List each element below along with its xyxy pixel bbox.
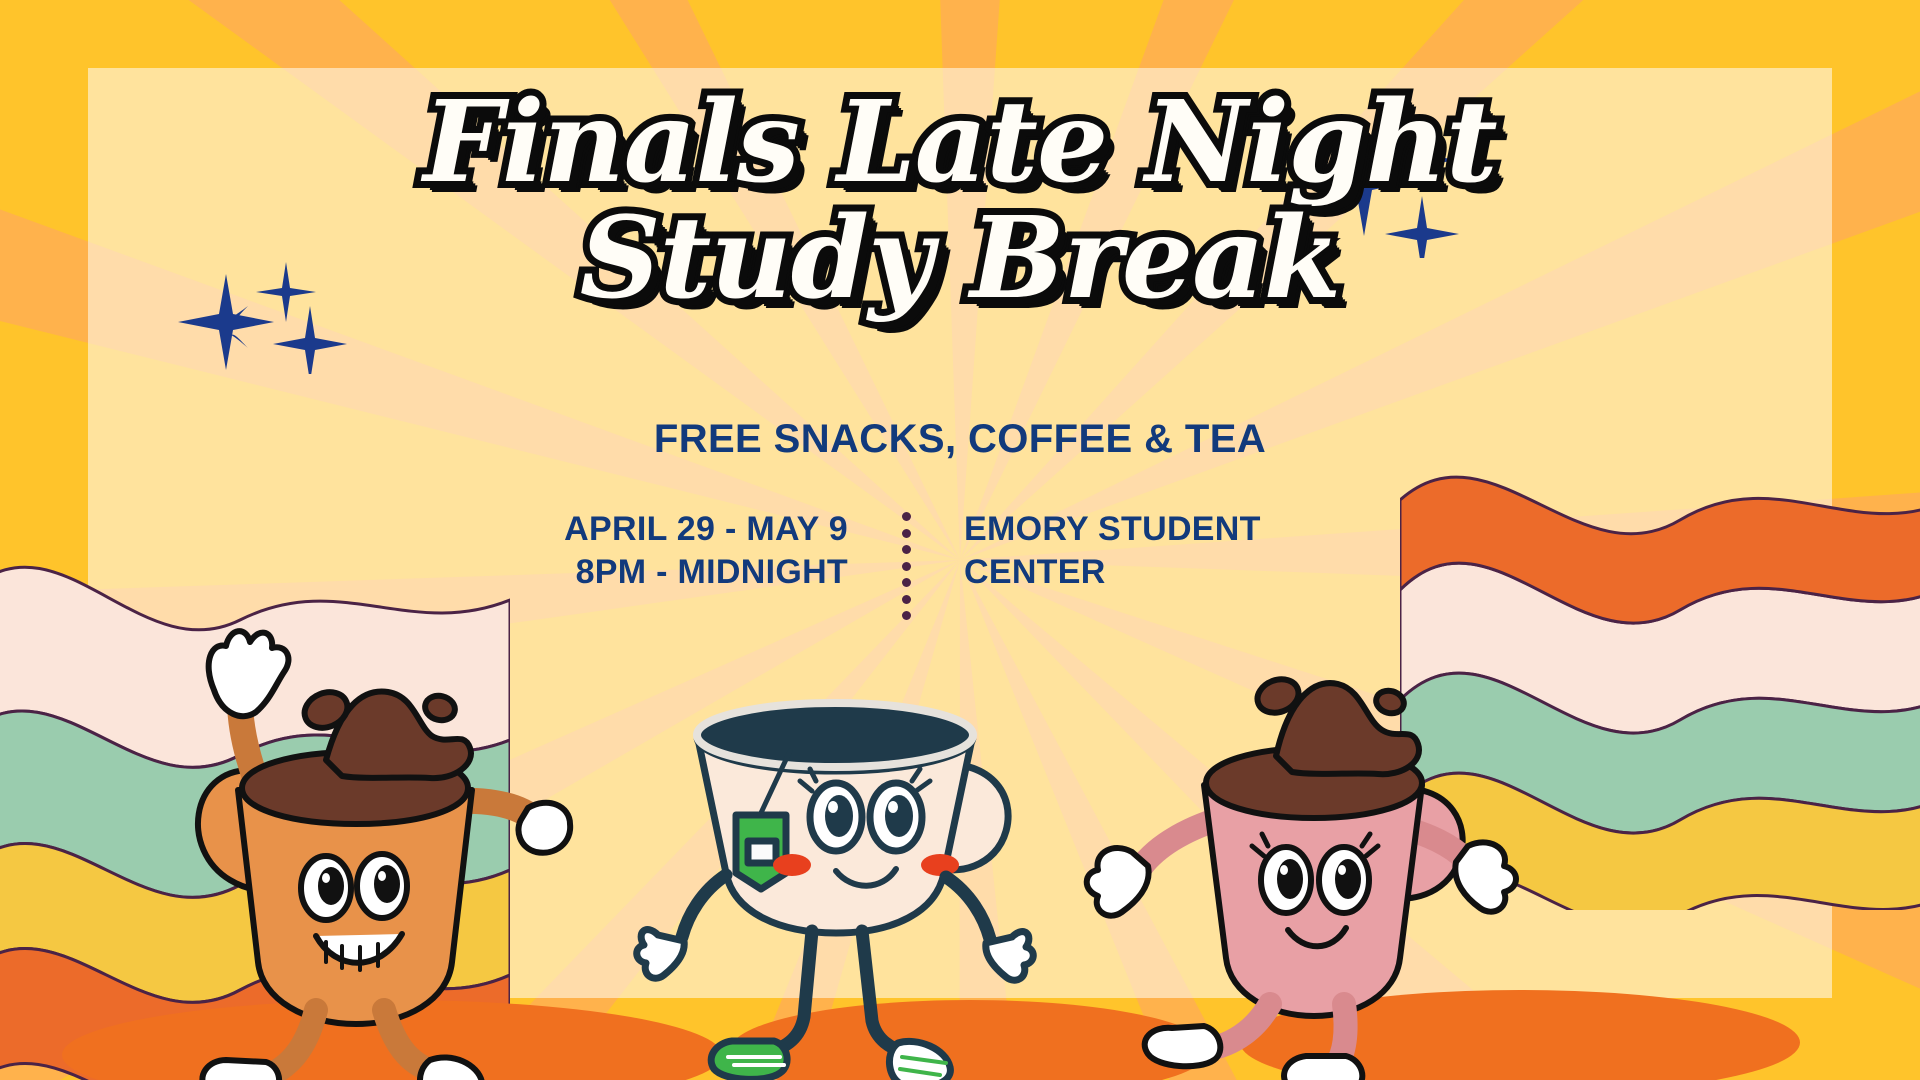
coffee-cup-mascot-right (1090, 580, 1530, 1060)
tea-cup-mascot-center (640, 665, 1060, 1080)
sparkle-cluster-right (1306, 118, 1476, 258)
poster-canvas: Finals Late Night Study Break FREE SNACK… (0, 0, 1920, 1080)
dotted-divider (880, 512, 932, 620)
location-line-1: EMORY STUDENT (964, 508, 1364, 551)
subtitle-text: FREE SNACKS, COFFEE & TEA (0, 417, 1920, 462)
sparkle-cluster-left (178, 254, 358, 374)
coffee-cup-mascot-left (130, 580, 560, 1080)
date-line: APRIL 29 - MAY 9 (448, 508, 848, 551)
